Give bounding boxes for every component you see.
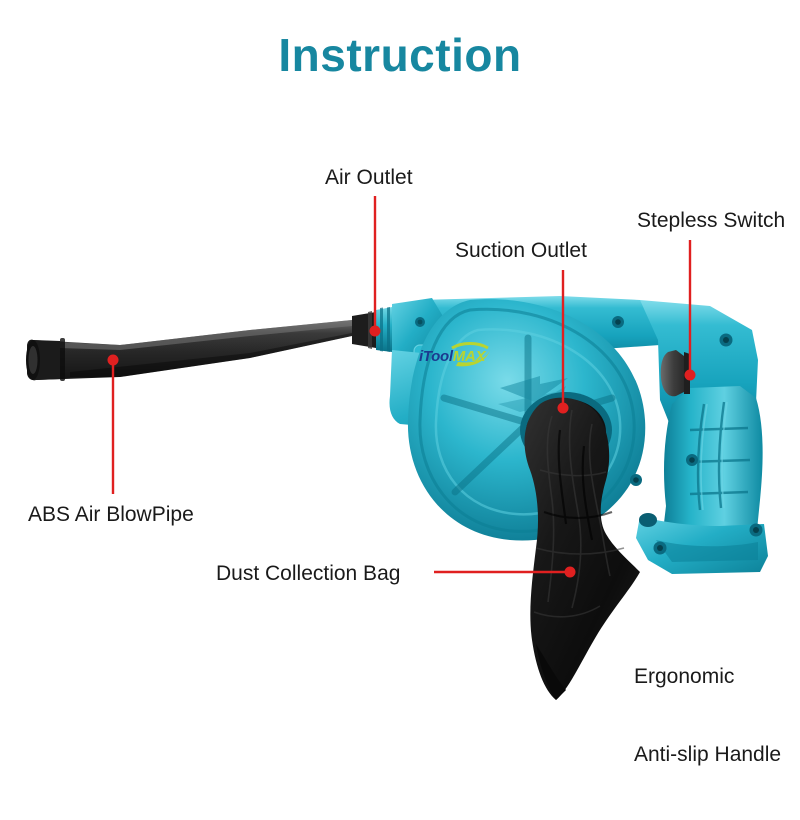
brand-wordmark-secondary: MAX	[453, 348, 485, 365]
blower-body	[389, 296, 660, 541]
callout-label-suction-outlet: Suction Outlet	[455, 238, 587, 263]
callout-label-ergonomic-line2: Anti-slip Handle	[634, 742, 781, 768]
instruction-diagram: Instruction	[0, 0, 800, 800]
callout-label-abs-air-blowpipe: ABS Air BlowPipe	[28, 502, 194, 527]
callout-label-ergonomic-handle: Ergonomic Anti-slip Handle	[634, 612, 781, 820]
brand-wordmark-primary: iTool	[419, 348, 453, 365]
callout-label-dust-collection-bag: Dust Collection Bag	[216, 561, 400, 586]
callout-label-air-outlet: Air Outlet	[325, 165, 413, 190]
brand-wordmark: iToolMAX	[419, 347, 489, 367]
abs-air-blowpipe-part	[26, 320, 352, 381]
callout-label-ergonomic-line1: Ergonomic	[634, 664, 781, 690]
callout-label-stepless-switch: Stepless Switch	[637, 208, 785, 233]
